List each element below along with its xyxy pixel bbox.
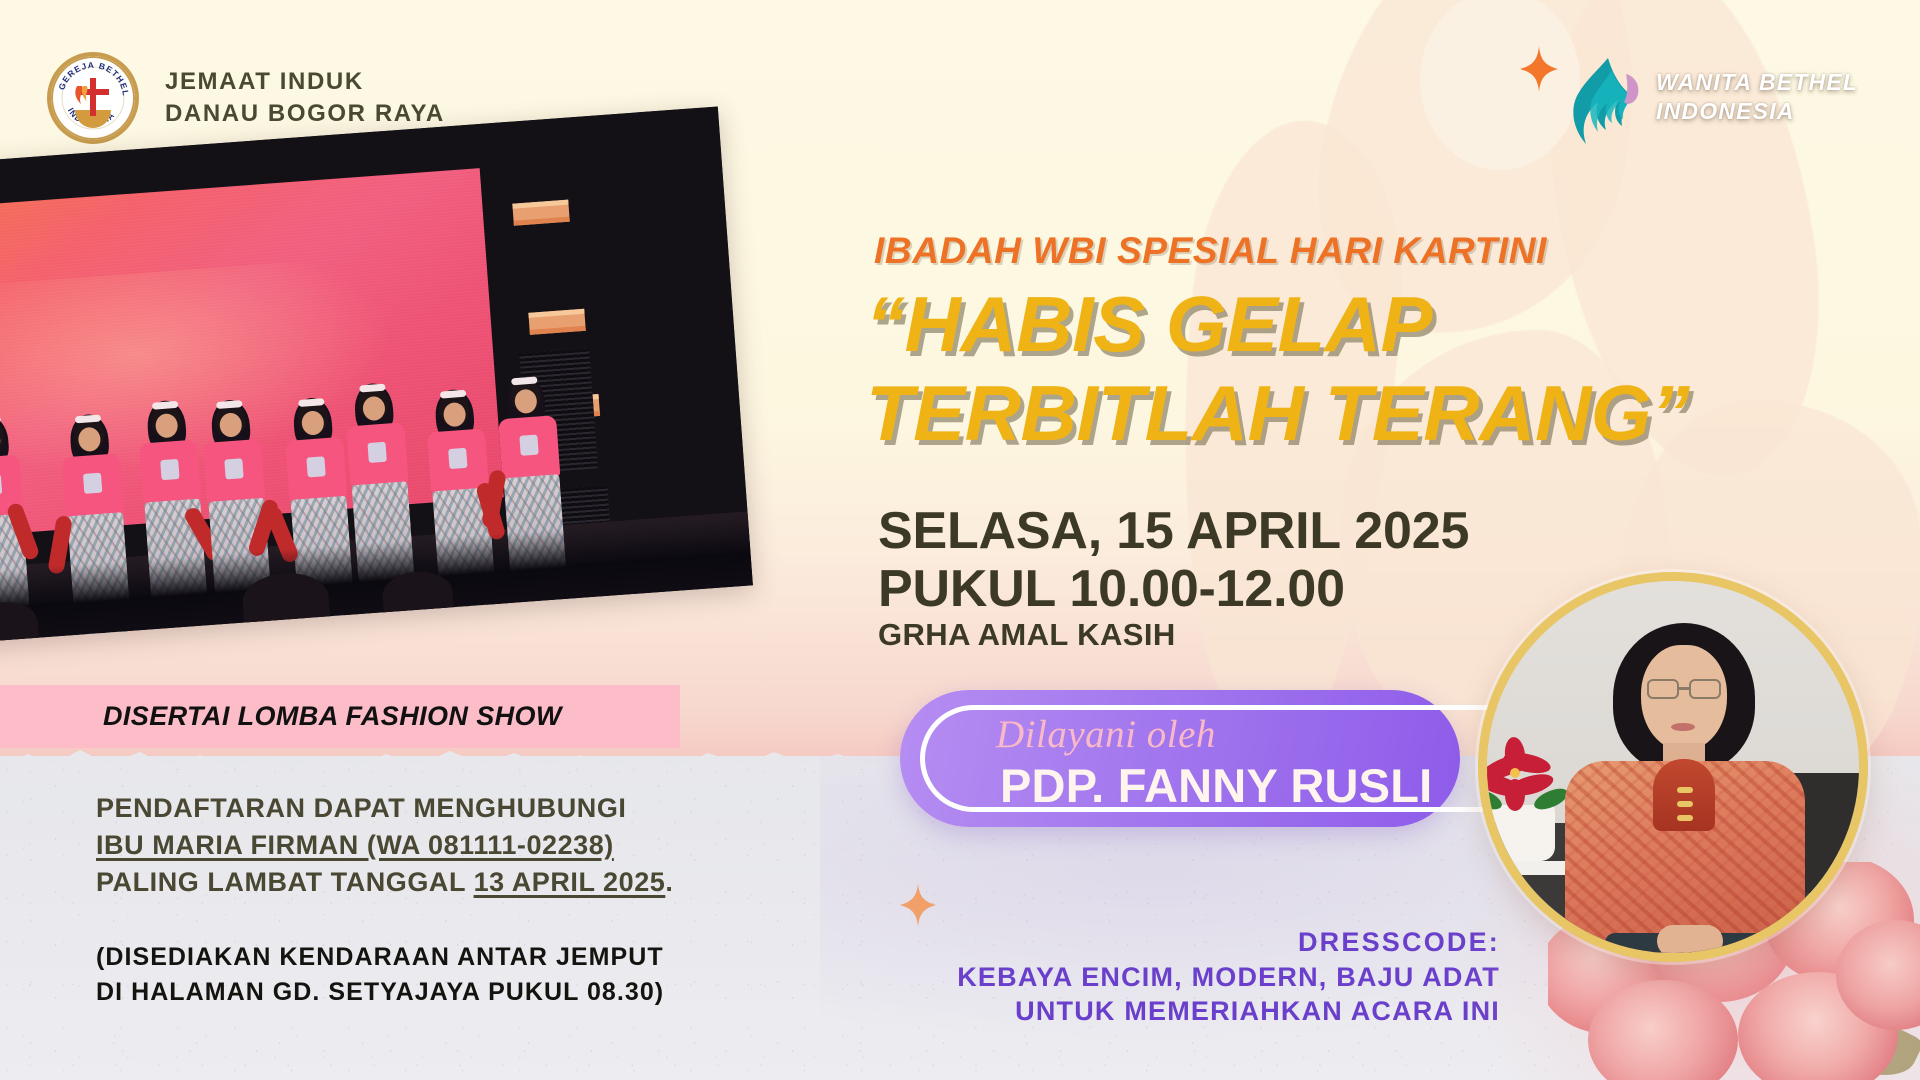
dresscode-line2: UNTUK MEMERIAHKAN ACARA INI	[810, 994, 1500, 1029]
event-schedule: SELASA, 15 APRIL 2025 PUKUL 10.00-12.00	[878, 502, 1469, 618]
wbi-logo-block: WANITA BETHEL INDONESIA	[1508, 36, 1908, 154]
fashion-show-banner: DISERTAI LOMBA FASHION SHOW	[0, 685, 680, 748]
transport-line1: (DISEDIAKAN KENDARAAN ANTAR JEMPUT	[96, 940, 664, 975]
dresscode-heading: DRESSCODE:	[810, 925, 1500, 960]
registration-deadline-prefix: PALING LAMBAT TANGGAL	[96, 867, 474, 897]
speaker-name: PDP. FANNY RUSLI	[1000, 758, 1432, 813]
poster-canvas: GEREJA BETHEL INDONESIA JEMAAT INDUK DAN…	[0, 0, 1920, 1080]
headline-line1: “HABIS GELAP	[866, 280, 1432, 368]
registration-deadline-date: 13 APRIL 2025	[474, 867, 666, 897]
speaker-portrait	[1478, 572, 1868, 962]
transport-line2: DI HALAMAN GD. SETYAJAYA PUKUL 08.30)	[96, 975, 664, 1010]
speaker-prefix: Dilayani oleh	[996, 712, 1216, 757]
event-venue: GRHA AMAL KASIH	[878, 617, 1176, 653]
registration-contact: IBU MARIA FIRMAN (WA 081111-02238)	[96, 830, 614, 860]
sparkle-icon-small	[900, 883, 936, 927]
fashion-show-banner-label: DISERTAI LOMBA FASHION SHOW	[103, 701, 562, 732]
wbi-name: WANITA BETHEL INDONESIA	[1656, 68, 1858, 127]
sparkle-icon	[1520, 46, 1558, 92]
event-headline: “HABIS GELAP TERBITLAH TERANG”	[866, 288, 1689, 451]
event-kicker: IBADAH WBI SPESIAL HARI KARTINI	[874, 230, 1547, 272]
registration-block: PENDAFTARAN DAPAT MENGHUBUNGI IBU MARIA …	[96, 790, 673, 901]
event-date: SELASA, 15 APRIL 2025	[878, 502, 1469, 560]
wbi-name-line2: INDONESIA	[1656, 97, 1858, 126]
registration-deadline-suffix: .	[665, 867, 673, 897]
wbi-flame-icon	[1564, 56, 1644, 152]
registration-line1: PENDAFTARAN DAPAT MENGHUBUNGI	[96, 790, 673, 827]
speaker-pill: Dilayani oleh PDP. FANNY RUSLI	[900, 690, 1460, 827]
wbi-name-line1: WANITA BETHEL	[1656, 68, 1858, 97]
dresscode-block: DRESSCODE: KEBAYA ENCIM, MODERN, BAJU AD…	[810, 925, 1500, 1029]
headline-line2: TERBITLAH TERANG”	[866, 377, 1689, 450]
church-name-line2: DANAU BOGOR RAYA	[165, 98, 445, 130]
gbi-seal-icon: GEREJA BETHEL INDONESIA	[47, 52, 139, 144]
church-name-line1: JEMAAT INDUK	[165, 66, 445, 98]
transport-block: (DISEDIAKAN KENDARAAN ANTAR JEMPUT DI HA…	[96, 940, 664, 1010]
dresscode-line1: KEBAYA ENCIM, MODERN, BAJU ADAT	[810, 960, 1500, 995]
church-name: JEMAAT INDUK DANAU BOGOR RAYA	[165, 66, 445, 129]
event-photo	[0, 106, 753, 646]
event-time: PUKUL 10.00-12.00	[878, 560, 1469, 618]
